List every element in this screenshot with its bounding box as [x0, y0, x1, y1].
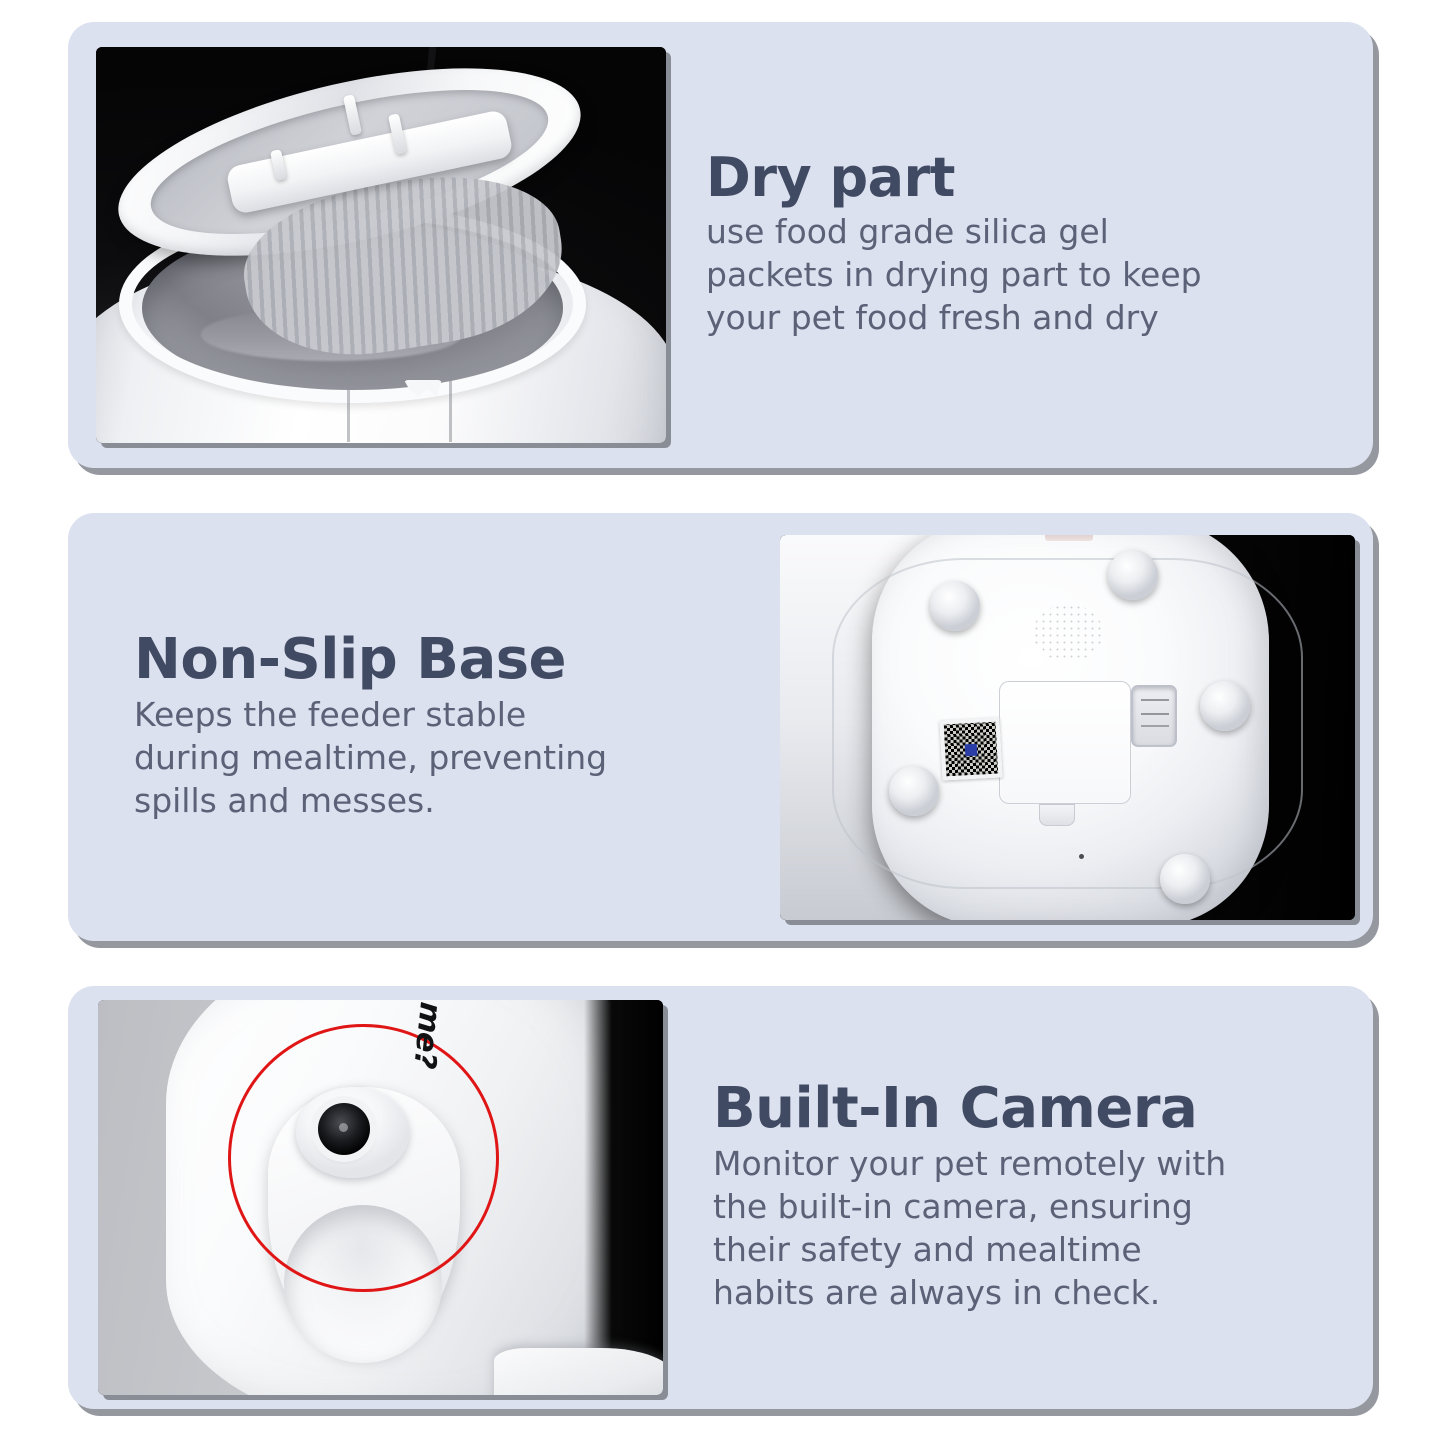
feature-panel-non-slip-base: Non-Slip Base Keeps the feeder stable du… [68, 513, 1373, 941]
top-vent [1045, 535, 1093, 541]
feature-text-built-in-camera: Built-In Camera Monitor your pet remotel… [663, 1080, 1373, 1315]
feature-heading: Dry part [706, 150, 1339, 205]
feature-heading: Built-In Camera [713, 1080, 1339, 1137]
pet-feeder-base-photo [780, 535, 1355, 920]
feature-panel-dry-part: Dry part use food grade silica gel packe… [68, 22, 1373, 468]
battery-compartment-door [999, 681, 1131, 804]
feature-description: use food grade silica gel packets in dry… [706, 211, 1226, 340]
photo-overlay-label: me? [407, 1000, 449, 1069]
infographic-page: Dry part use food grade silica gel packe… [0, 0, 1445, 1445]
non-slip-foot [1108, 550, 1158, 600]
feature-text-dry-part: Dry part use food grade silica gel packe… [666, 150, 1373, 340]
body-seam [347, 372, 350, 442]
non-slip-foot [1200, 681, 1250, 731]
qr-center-dot [965, 744, 978, 757]
non-slip-foot [889, 766, 939, 816]
feature-heading: Non-Slip Base [134, 631, 760, 688]
red-highlight-circle-icon [228, 1024, 499, 1293]
sd-card-slot [1131, 685, 1177, 747]
pet-feeder-lid-open-photo [96, 47, 666, 443]
non-slip-foot [930, 581, 980, 631]
photo-backdrop-edge [584, 1000, 663, 1395]
feeding-tray [494, 1348, 664, 1395]
non-slip-foot [1160, 854, 1210, 904]
body-seam [449, 372, 452, 442]
pet-feeder-camera-photo: me? [98, 1000, 663, 1395]
feature-text-non-slip-base: Non-Slip Base Keeps the feeder stable du… [68, 631, 780, 823]
battery-door-latch [1039, 804, 1075, 826]
speaker-grille [1033, 604, 1103, 662]
feature-panel-built-in-camera: me? Built-In Camera Monitor your pet rem… [68, 986, 1373, 1409]
qr-code-label [939, 718, 1002, 781]
feature-description: Monitor your pet remotely with the built… [713, 1143, 1253, 1315]
feature-description: Keeps the feeder stable during mealtime,… [134, 694, 634, 823]
